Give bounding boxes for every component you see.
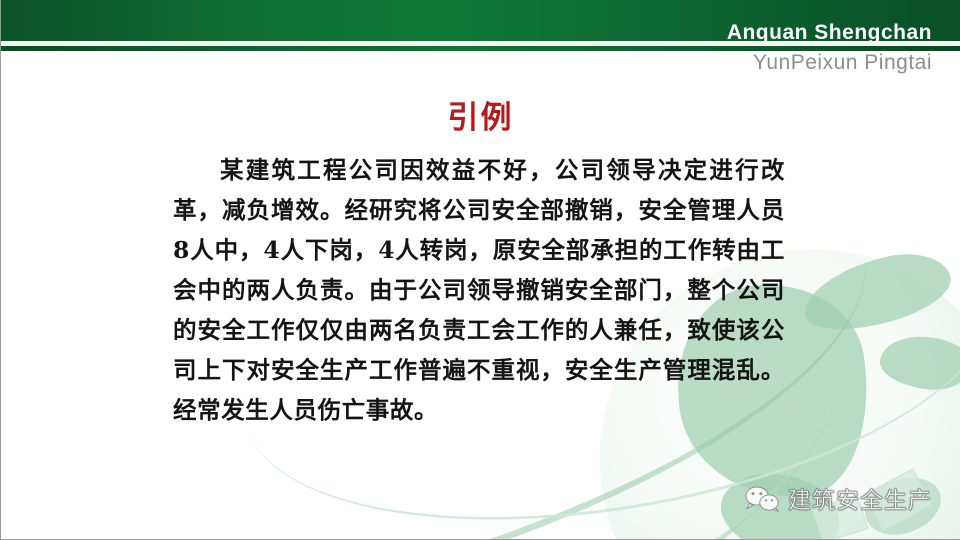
page-title: 引例 bbox=[1, 92, 960, 137]
brand-title-secondary: YunPeixun Pingtai bbox=[753, 52, 932, 73]
continent-shape bbox=[796, 243, 957, 341]
brand-title-primary: Anquan Shengchan bbox=[727, 22, 932, 43]
body-text-block: 某建筑工程公司因效益不好，公司领导决定进行改革，减负增效。经研究将公司安全部撤销… bbox=[173, 150, 785, 430]
wechat-watermark: 建筑安全生产 bbox=[745, 481, 932, 515]
body-paragraph: 某建筑工程公司因效益不好，公司领导决定进行改革，减负增效。经研究将公司安全部撤销… bbox=[173, 150, 785, 430]
continent-shape bbox=[878, 332, 960, 393]
watermark-label: 建筑安全生产 bbox=[788, 481, 932, 515]
wechat-icon bbox=[745, 485, 779, 512]
presentation-slide: Anquan Shengchan YunPeixun Pingtai 引例 某建… bbox=[0, 0, 960, 540]
